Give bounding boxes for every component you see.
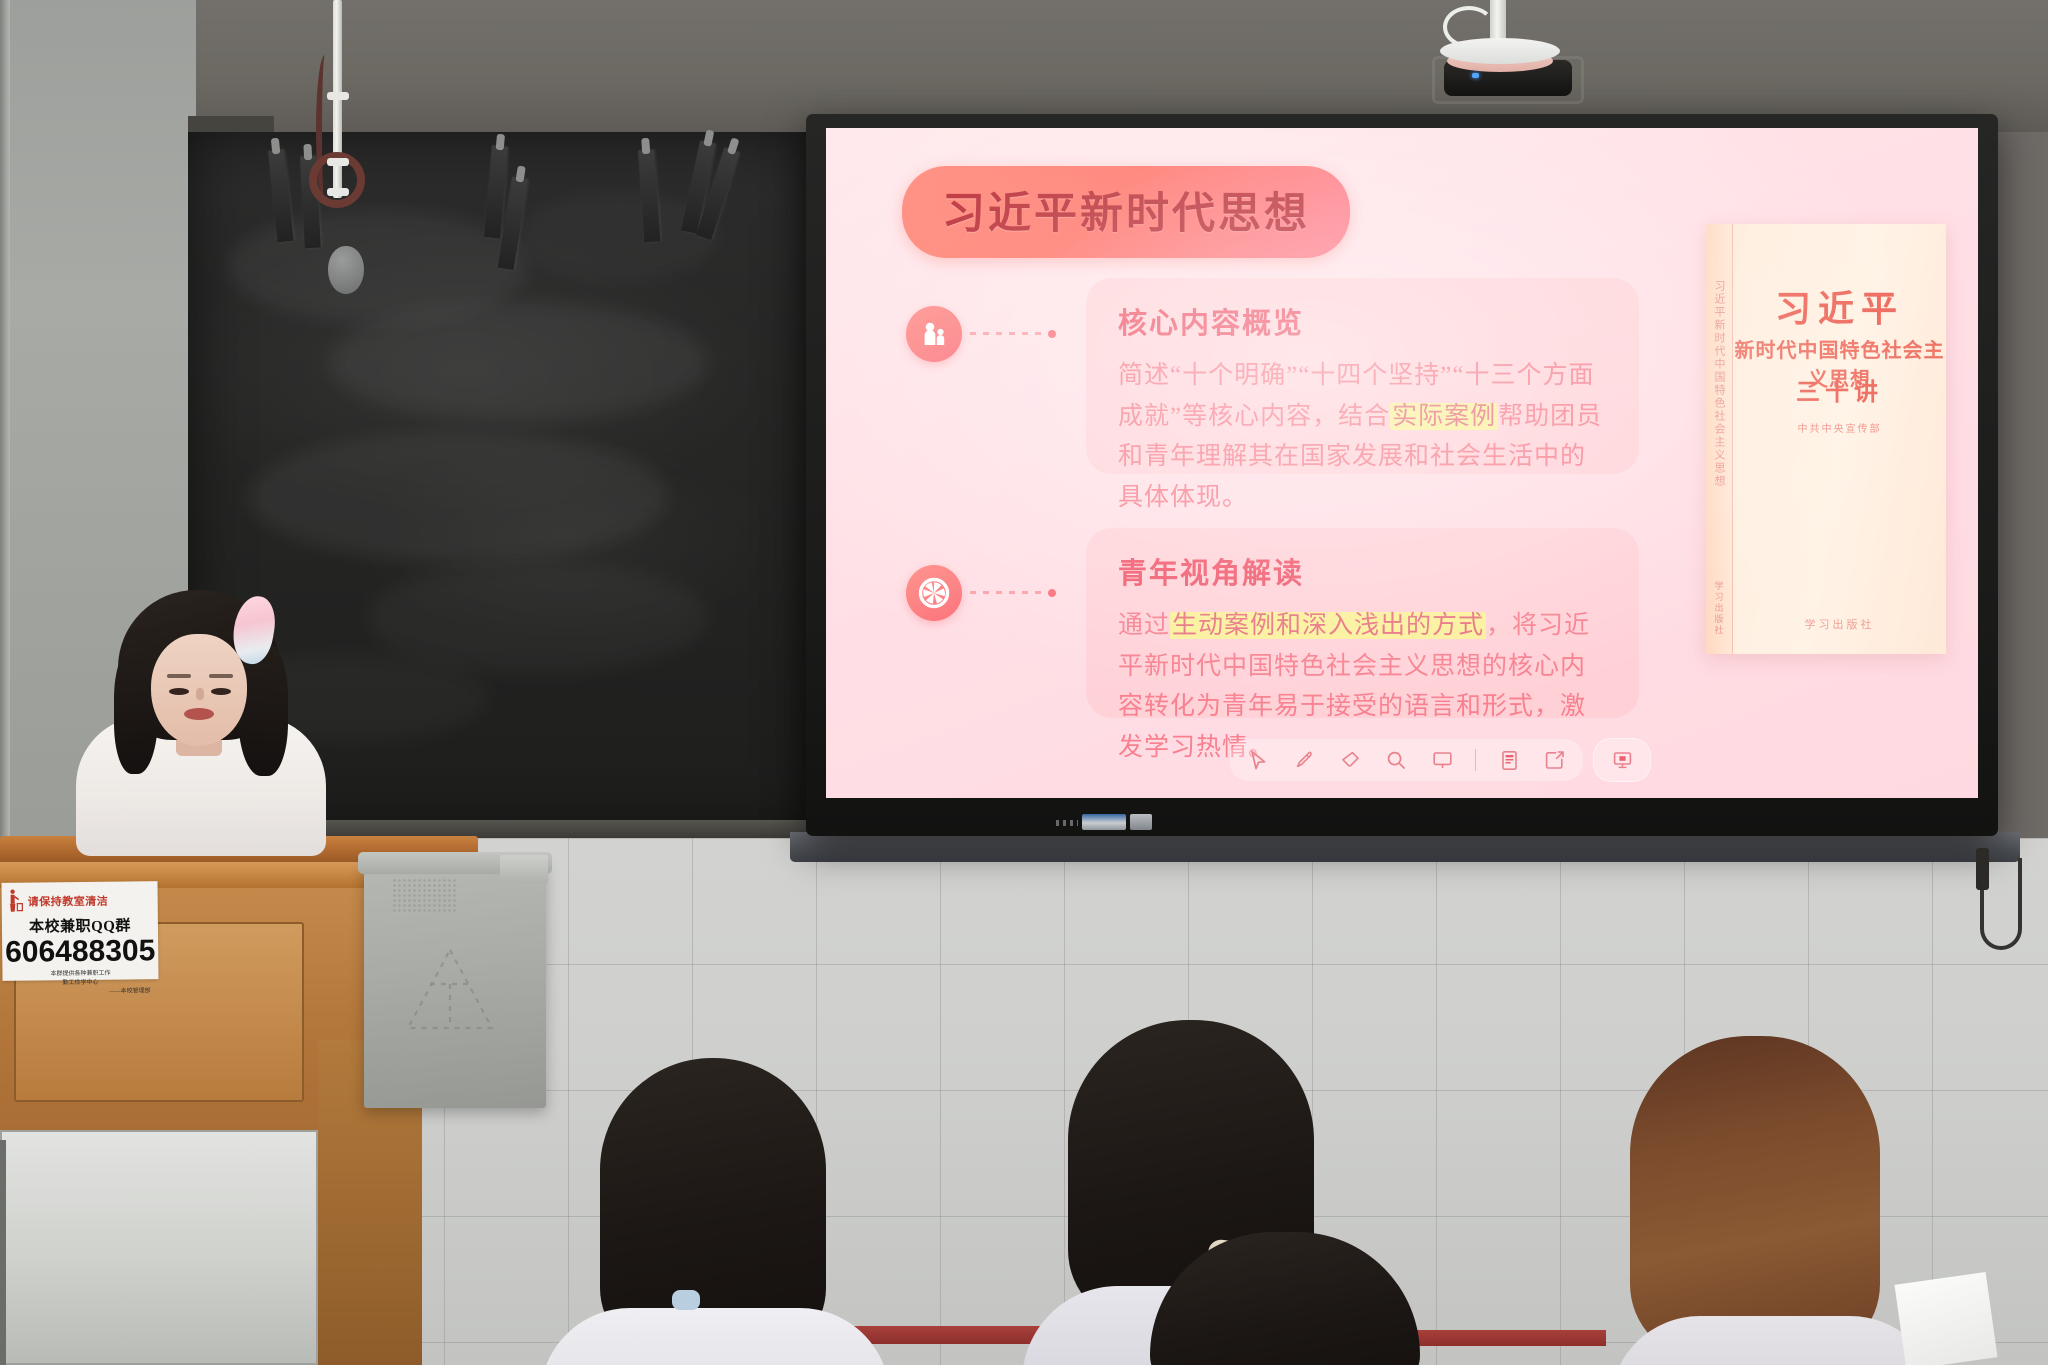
presenter-hair-right (238, 644, 288, 776)
toolbar-cast-group (1593, 738, 1651, 782)
connector-line-1 (970, 332, 1048, 335)
audience-3-hair (1630, 1036, 1880, 1360)
card2-highlight: 生动案例和深入浅出的方式 (1170, 612, 1486, 639)
card2-body-prefix: 通过 (1118, 612, 1170, 639)
pole-clip (327, 158, 349, 166)
sign-fine-print: 本群提供各种兼职工作 勤工俭学中心 ——本校管理部 (2, 969, 158, 998)
slide-toolbar[interactable] (1230, 738, 1651, 782)
slide-title-pill: 习近平新时代思想 (902, 166, 1350, 258)
pole-clip (327, 92, 349, 100)
book-cover-image: 习近平新时代中国特色社会主义思想 学习出版社 习近平 新时代中国特色社会主义思想… (1706, 224, 1946, 654)
camera-disc (1440, 38, 1560, 64)
card1-heading: 核心内容概览 (1118, 300, 1609, 342)
notes-icon[interactable] (1489, 744, 1529, 776)
bezel-sticker (1082, 814, 1126, 830)
cable-plug (1976, 848, 1989, 890)
card-youth-perspective: 青年视角解读 通过生动案例和深入浅出的方式，将习近平新时代中国特色社会主义思想的… (1086, 528, 1639, 718)
card2-heading: 青年视角解读 (1118, 550, 1609, 592)
share-icon[interactable] (1535, 744, 1575, 776)
handout-paper (1894, 1272, 1997, 1365)
toolbar-main-group (1230, 739, 1583, 781)
sign-top-row: 请保持教室清洁 (1, 881, 157, 915)
bezel-vents (1056, 820, 1078, 826)
wall-seam (0, 0, 10, 860)
sign-fine2: 勤工俭学中心 (62, 980, 98, 986)
cast-icon[interactable] (1602, 744, 1642, 776)
book-spine: 习近平新时代中国特色社会主义思想 学习出版社 (1706, 224, 1733, 654)
speaker-grille (392, 878, 456, 912)
monitor-icon[interactable] (1422, 744, 1462, 776)
audience-4-hair (1150, 1232, 1420, 1365)
hanging-microphone (328, 246, 364, 294)
bezel-sticker-2 (1130, 814, 1152, 830)
camera-mount-pole (1490, 0, 1506, 42)
smartboard-screen[interactable]: 习近平新时代思想 核心内容概览 简述“十个明确”“十四个坚持”“十三个方面成就”… (826, 128, 1978, 798)
litter-bin-icon (8, 889, 24, 915)
book-spine-text: 习近平新时代中国特色社会主义思想 (1711, 280, 1727, 488)
sign-fine3: ——本校管理部 (3, 987, 159, 998)
pole-clip (327, 188, 349, 196)
book-spine-publisher: 学习出版社 (1713, 581, 1726, 636)
presenter-hair-left (114, 648, 158, 774)
book-title-third: 三十讲 (1733, 372, 1946, 407)
sign-line2: 本校兼职QQ群 (2, 914, 158, 937)
equipment-side-panel (500, 855, 548, 883)
book-byline: 中共中央宣传部 (1733, 420, 1946, 435)
sign-line1: 请保持教室清洁 (28, 893, 109, 910)
magnifier-icon[interactable] (1376, 744, 1416, 776)
card-core-content: 核心内容概览 简述“十个明确”“十四个坚持”“十三个方面成就”等核心内容，结合实… (1086, 278, 1639, 474)
camera-led-indicator (1472, 73, 1479, 78)
sign-fine1: 本群提供各种兼职工作 (50, 971, 110, 978)
connector-line-2 (970, 591, 1048, 594)
audience-1-hair-tie (672, 1290, 700, 1310)
toolbar-divider (1475, 749, 1476, 771)
presenter-mouth (184, 708, 214, 720)
cursor-icon[interactable] (1238, 744, 1278, 776)
presenter-nose (196, 688, 204, 700)
upper-wall (0, 0, 2048, 132)
sign-qq-number: 606488305 (2, 936, 158, 968)
audience-member-4 (1150, 1232, 1420, 1365)
book-publisher: 学习出版社 (1733, 616, 1946, 632)
audience-member-3 (1630, 1036, 1880, 1360)
card1-highlight: 实际案例 (1390, 403, 1498, 430)
audience-member-1 (600, 1058, 826, 1358)
eraser-icon[interactable] (1330, 744, 1370, 776)
smartboard-shelf (790, 832, 2020, 862)
aperture-icon (906, 565, 962, 621)
classroom-notice-sign: 请保持教室清洁 本校兼职QQ群 606488305 本群提供各种兼职工作 勤工俭… (1, 881, 158, 981)
podium-lower-cabinet (0, 1130, 318, 1365)
pen-icon[interactable] (1284, 744, 1324, 776)
people-icon (906, 306, 962, 362)
classroom-scene: 习近平新时代思想 核心内容概览 简述“十个明确”“十四个坚持”“十三个方面成就”… (0, 0, 2048, 1365)
audience-1-shirt (540, 1308, 890, 1365)
card1-body: 简述“十个明确”“十四个坚持”“十三个方面成就”等核心内容，结合实际案例帮助团员… (1118, 356, 1609, 518)
interactive-smartboard[interactable]: 习近平新时代思想 核心内容概览 简述“十个明确”“十四个坚持”“十三个方面成就”… (806, 114, 1998, 836)
baseboard (0, 1140, 6, 1365)
presentation-slide: 习近平新时代思想 核心内容概览 简述“十个明确”“十四个坚持”“十三个方面成就”… (826, 128, 1978, 798)
slide-title: 习近平新时代思想 (942, 191, 1310, 238)
equipment-emblem (400, 944, 500, 1036)
book-title-main: 习近平 (1733, 280, 1946, 332)
